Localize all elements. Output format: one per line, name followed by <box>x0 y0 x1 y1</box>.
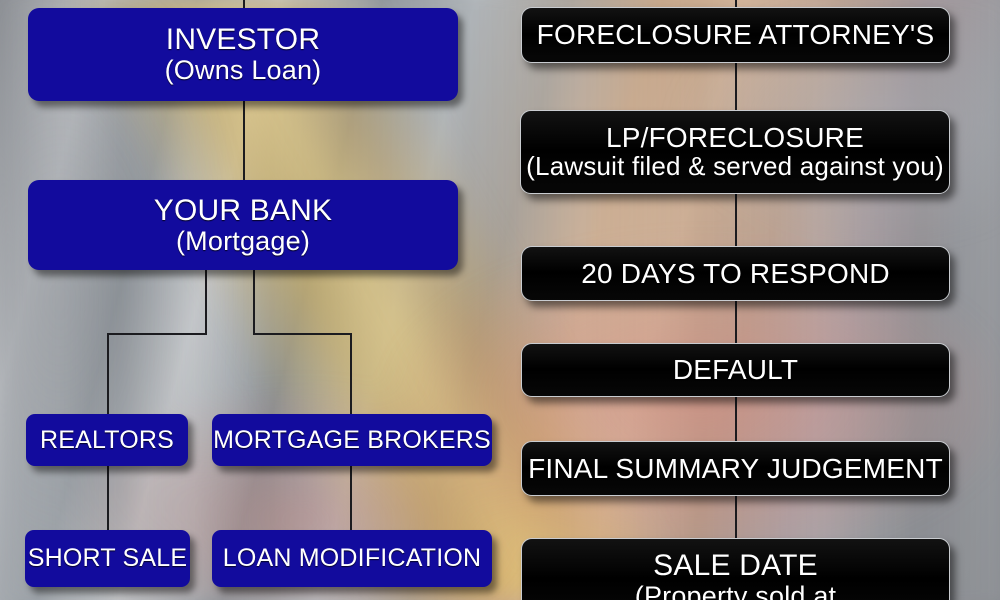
connector-to-realtors <box>107 333 109 416</box>
connector-lp-to-20days <box>735 194 737 248</box>
node-investor-line2: (Owns Loan) <box>165 56 322 85</box>
node-sale-date-line1: SALE DATE <box>653 550 818 582</box>
node-lp-foreclosure-line1: LP/FORECLOSURE <box>606 123 864 153</box>
node-short-sale-label: SHORT SALE <box>28 545 187 572</box>
connector-attorneys-to-lp <box>735 62 737 112</box>
connector-judgement-to-sale-date <box>735 495 737 539</box>
connector-to-mortgage-brokers <box>350 333 352 416</box>
node-final-summary-judgement-label: FINAL SUMMARY JUDGEMENT <box>528 454 943 484</box>
node-default-label: DEFAULT <box>673 355 798 385</box>
connector-bank-stem-right <box>253 268 255 334</box>
node-investor-line1: INVESTOR <box>166 24 320 56</box>
node-realtors[interactable]: REALTORS <box>26 414 188 466</box>
node-loan-modification[interactable]: LOAN MODIFICATION <box>212 530 492 587</box>
connector-20days-to-default <box>735 300 737 344</box>
connector-investor-to-bank <box>243 100 245 182</box>
node-sale-date[interactable]: SALE DATE (Property sold at <box>521 538 950 600</box>
node-investor[interactable]: INVESTOR (Owns Loan) <box>28 8 458 101</box>
connector-default-to-judgement <box>735 396 737 442</box>
node-lp-foreclosure[interactable]: LP/FORECLOSURE (Lawsuit filed & served a… <box>520 110 950 194</box>
node-foreclosure-attorneys-label: FORECLOSURE ATTORNEY'S <box>537 20 935 50</box>
node-your-bank[interactable]: YOUR BANK (Mortgage) <box>28 180 458 270</box>
node-your-bank-line1: YOUR BANK <box>154 195 333 227</box>
connector-branch-right-arm <box>253 333 352 335</box>
node-20-days-to-respond-label: 20 DAYS TO RESPOND <box>581 259 890 289</box>
connector-realtors-to-short-sale <box>107 466 109 530</box>
flowchart-canvas: INVESTOR (Owns Loan) YOUR BANK (Mortgage… <box>0 0 1000 600</box>
node-foreclosure-attorneys[interactable]: FORECLOSURE ATTORNEY'S <box>521 7 950 63</box>
node-mortgage-brokers-label: MORTGAGE BROKERS <box>213 427 491 454</box>
node-default[interactable]: DEFAULT <box>521 343 950 397</box>
node-loan-modification-label: LOAN MODIFICATION <box>223 545 482 572</box>
connector-bank-stem-left <box>205 268 207 334</box>
node-20-days-to-respond[interactable]: 20 DAYS TO RESPOND <box>521 246 950 301</box>
node-lp-foreclosure-line2: (Lawsuit filed & served against you) <box>526 153 944 181</box>
node-your-bank-line2: (Mortgage) <box>176 227 310 256</box>
node-sale-date-line2: (Property sold at <box>635 582 836 600</box>
connector-brokers-to-loan-modification <box>350 466 352 530</box>
connector-branch-left-arm <box>107 333 207 335</box>
node-short-sale[interactable]: SHORT SALE <box>25 530 190 587</box>
node-mortgage-brokers[interactable]: MORTGAGE BROKERS <box>212 414 492 466</box>
node-final-summary-judgement[interactable]: FINAL SUMMARY JUDGEMENT <box>521 441 950 496</box>
node-realtors-label: REALTORS <box>40 427 174 454</box>
